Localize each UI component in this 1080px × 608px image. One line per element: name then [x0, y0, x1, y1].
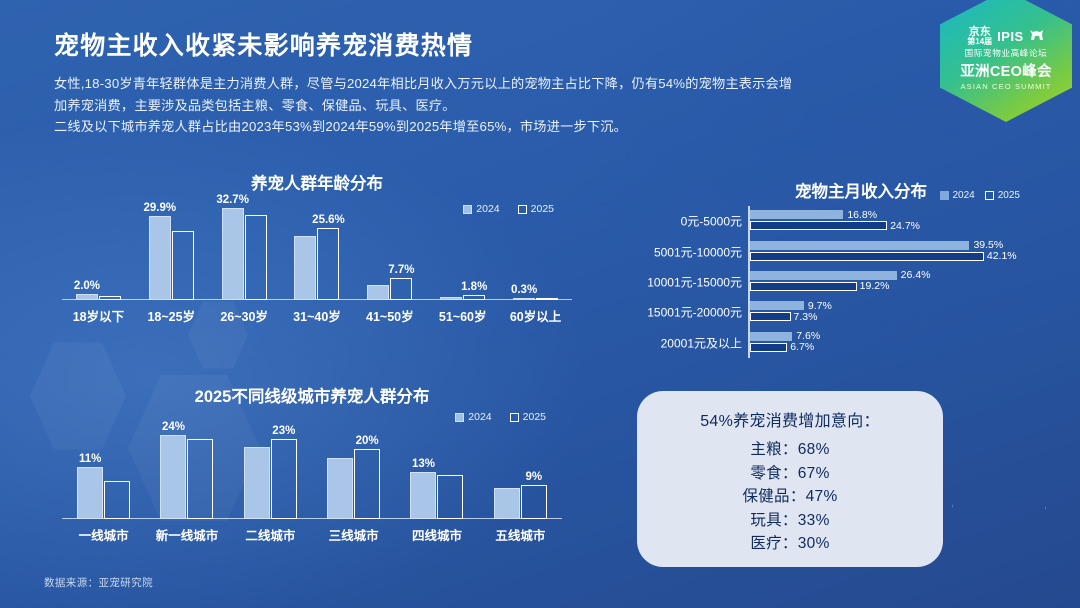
category-label: 二线城市: [229, 525, 312, 544]
badge-top-row: 京东 第14届 IPIS: [967, 27, 1044, 47]
bar-value-label: 7.7%: [388, 264, 414, 276]
bar-2025: [99, 296, 121, 300]
decor-hexagon-outline-1: [952, 408, 1080, 604]
bar-2024: [367, 285, 389, 300]
legend-swatch-2025: [985, 191, 994, 200]
bar-group: 24%: [145, 421, 228, 519]
legend-label-2025: 2025: [998, 190, 1020, 201]
category-label: 0元-5000元: [681, 213, 742, 230]
callout-row-staple: 主粮：68%: [637, 438, 943, 462]
chart-income-plot: 0元-5000元16.8%24.7%5001元-10000元39.5%42.1%…: [750, 206, 1046, 358]
bar-value-label: 19.2%: [860, 280, 890, 292]
category-label: 41~50岁: [353, 306, 426, 325]
bar-group: 23%: [229, 421, 312, 519]
chart-city-plot: 11%24%23%20%13%9%: [62, 421, 562, 519]
callout-heading: 54%养宠消费增加意向：: [637, 407, 943, 431]
bar-2024: 16.8%: [750, 210, 843, 219]
category-label: 10001元-15000元: [647, 273, 742, 290]
chart-income-distribution: 宠物主月收入分布 2024 2025 0元-5000元16.8%24.7%500…: [626, 178, 1056, 368]
bar-group: 13%: [395, 421, 478, 519]
bar-value-label: 13%: [412, 458, 435, 470]
bar-2025: 42.1%: [750, 252, 984, 261]
bar-value-label: 32.7%: [216, 194, 249, 206]
bar-group: 7.7%: [353, 202, 426, 300]
chart-city-tier-distribution: 2025不同线级城市养宠人群分布 2024 2025 11%24%23%20%1…: [62, 383, 562, 543]
bar-2025: 9%: [521, 485, 547, 519]
bar-value-label: 23%: [272, 425, 295, 437]
badge-jd-main: 京东: [969, 26, 991, 38]
bar-value-label: 42.1%: [987, 250, 1017, 262]
bar-2024: [494, 488, 520, 520]
header-line-1: 女性,18-30岁青年轻群体是主力消费人群，尽管与2024年相比月收入万元以上的…: [54, 73, 934, 95]
callout-row-medical: 医疗：30%: [637, 532, 943, 556]
bar-group: 20%: [312, 421, 395, 519]
category-label: 26~30岁: [208, 306, 281, 325]
callout-row-snack: 零食：67%: [637, 462, 943, 486]
bar-2025: 6.7%: [750, 343, 787, 352]
bar-row: 5001元-10000元39.5%42.1%: [750, 236, 1046, 266]
category-label: 新一线城市: [145, 525, 228, 544]
bar-group: 11%: [62, 421, 145, 519]
category-label: 18岁以下: [62, 306, 135, 325]
bar-value-label: 11%: [79, 453, 101, 465]
category-label: 四线城市: [395, 525, 478, 544]
summit-logo-badge: 京东 第14届 IPIS 国际宠物业高峰论坛 亚洲CEO峰会 ASIAN CEO…: [940, 0, 1072, 122]
chart-age-plot: 2.0%29.9%32.7%25.6%7.7%1.8%0.3%: [62, 202, 572, 300]
bar-group: 32.7%: [208, 202, 281, 300]
bar-2025: [536, 298, 558, 300]
category-label: 60岁以上: [499, 306, 572, 325]
bar-2025: 7.3%: [750, 312, 791, 321]
bar-group: 1.8%: [426, 202, 499, 300]
category-label: 三线城市: [312, 525, 395, 544]
bar-2024: [327, 458, 353, 519]
bar-2025: [172, 231, 194, 300]
bar-value-label: 24.7%: [890, 220, 920, 232]
bar-2024: 11%: [77, 467, 103, 520]
bar-value-label: 26.4%: [901, 269, 931, 281]
slide-canvas: 宠物主收入收紧未影响养宠消费热情 女性,18-30岁青年轻群体是主力消费人群，尽…: [0, 0, 1080, 608]
bar-group: 0.3%: [499, 202, 572, 300]
bar-2024: 7.6%: [750, 332, 792, 341]
bar-2025: 19.2%: [750, 282, 857, 291]
bar-value-label: 2.0%: [74, 280, 100, 292]
bar-group: 25.6%: [281, 202, 354, 300]
bar-2024: 2.0%: [76, 294, 98, 300]
bar-row: 20001元及以上7.6%6.7%: [750, 328, 1046, 358]
bar-2024: 24%: [160, 435, 186, 519]
bar-2025: [437, 475, 463, 519]
bar-value-label: 24%: [162, 421, 185, 433]
chart-age-title: 养宠人群年龄分布: [62, 170, 572, 194]
bar-2025: 23%: [271, 439, 297, 520]
bar-2025: [187, 439, 213, 520]
bar-2024: 13%: [410, 472, 436, 519]
bar-2024: 39.5%: [750, 241, 969, 250]
data-source-footer: 数据来源：亚宠研究院: [44, 575, 153, 590]
bar-value-label: 6.7%: [790, 341, 814, 353]
bar-value-label: 7.3%: [794, 311, 818, 323]
header: 宠物主收入收紧未影响养宠消费热情 女性,18-30岁青年轻群体是主力消费人群，尽…: [54, 26, 934, 138]
bar-2025: [104, 481, 130, 520]
bar-value-label: 16.8%: [847, 209, 877, 221]
bar-2025: 1.8%: [463, 295, 485, 300]
badge-forum-name: 国际宠物业高峰论坛: [965, 47, 1048, 59]
bar-value-label: 20%: [356, 435, 379, 447]
chart-income-legend: 2024 2025: [940, 190, 1021, 201]
badge-summit-name: 亚洲CEO峰会: [960, 60, 1052, 81]
legend-item-2025: 2025: [985, 190, 1020, 201]
category-label: 5001元-10000元: [654, 243, 742, 260]
chart-city-categories: 一线城市新一线城市二线城市三线城市四线城市五线城市: [62, 525, 562, 545]
badge-summit-name-en: ASIAN CEO SUMMIT: [960, 82, 1051, 91]
category-label: 五线城市: [479, 525, 562, 544]
page-title: 宠物主收入收紧未影响养宠消费热情: [54, 26, 934, 62]
bar-value-label: 9%: [526, 471, 543, 483]
dog-icon: [1029, 28, 1045, 45]
legend-swatch-2024: [940, 191, 949, 200]
chart-age-distribution: 养宠人群年龄分布 2024 2025 2.0%29.9%32.7%25.6%7.…: [62, 170, 572, 330]
bar-row: 0元-5000元16.8%24.7%: [750, 206, 1046, 236]
badge-jd-text: 京东 第14届: [967, 27, 992, 47]
header-line-2: 加养宠消费，主要涉及品类包括主粮、零食、保健品、玩具、医疗。: [54, 95, 934, 117]
bar-2025: 25.6%: [317, 228, 339, 300]
bar-value-label: 25.6%: [312, 214, 345, 226]
bar-2024: 32.7%: [222, 208, 244, 300]
category-label: 一线城市: [62, 525, 145, 544]
category-label: 31~40岁: [281, 306, 354, 325]
bar-2024: [294, 236, 316, 300]
legend-item-2024: 2024: [940, 190, 975, 201]
bar-2024: 26.4%: [750, 271, 897, 280]
category-label: 15001元-20000元: [647, 304, 742, 321]
chart-age-categories: 18岁以下18~25岁26~30岁31~40岁41~50岁51~60岁60岁以上: [62, 306, 572, 326]
badge-jd-edition: 第14届: [967, 38, 992, 46]
bar-group: 9%: [479, 421, 562, 519]
bar-2024: [244, 447, 270, 519]
bar-2025: 20%: [354, 449, 380, 519]
callout-row-toy: 玩具：33%: [637, 509, 943, 533]
chart-city-title: 2025不同线级城市养宠人群分布: [62, 383, 562, 407]
bar-group: 2.0%: [62, 202, 135, 300]
consumption-intent-callout: 54%养宠消费增加意向： 主粮：68% 零食：67% 保健品：47% 玩具：33…: [637, 391, 943, 567]
bar-row: 10001元-15000元26.4%19.2%: [750, 267, 1046, 297]
category-label: 18~25岁: [135, 306, 208, 325]
bar-value-label: 1.8%: [461, 281, 487, 293]
bar-2024: [440, 297, 462, 300]
bar-value-label: 0.3%: [511, 284, 537, 296]
category-label: 20001元及以上: [661, 334, 742, 351]
bar-2025: [245, 215, 267, 300]
badge-ipis-text: IPIS: [997, 29, 1024, 44]
bar-2025: 7.7%: [390, 278, 412, 300]
category-label: 51~60岁: [426, 306, 499, 325]
bar-value-label: 29.9%: [143, 202, 176, 214]
legend-label-2024: 2024: [953, 190, 975, 201]
bar-2025: 24.7%: [750, 221, 887, 230]
bar-row: 15001元-20000元9.7%7.3%: [750, 297, 1046, 327]
bar-2024: 0.3%: [513, 298, 535, 300]
bar-2024: 29.9%: [149, 216, 171, 300]
header-line-3: 二线及以下城市养宠人群占比由2023年53%到2024年59%到2025年增至6…: [54, 116, 934, 138]
bar-2024: 9.7%: [750, 301, 804, 310]
callout-row-health: 保健品：47%: [637, 485, 943, 509]
bar-group: 29.9%: [135, 202, 208, 300]
